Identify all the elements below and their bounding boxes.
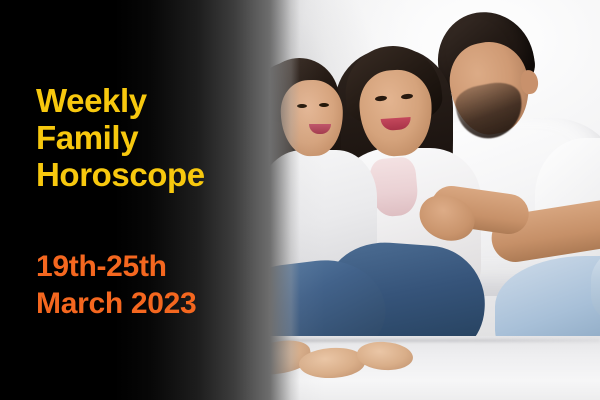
headline-title: Weekly Family Horoscope: [36, 82, 205, 193]
horoscope-banner: Weekly Family Horoscope 19th-25th March …: [0, 0, 600, 400]
girl-eye-right: [319, 103, 329, 107]
girl-eye-left: [297, 104, 307, 108]
date-range-label: 19th-25th March 2023: [36, 248, 196, 322]
text-block: Weekly Family Horoscope 19th-25th March …: [36, 0, 286, 400]
